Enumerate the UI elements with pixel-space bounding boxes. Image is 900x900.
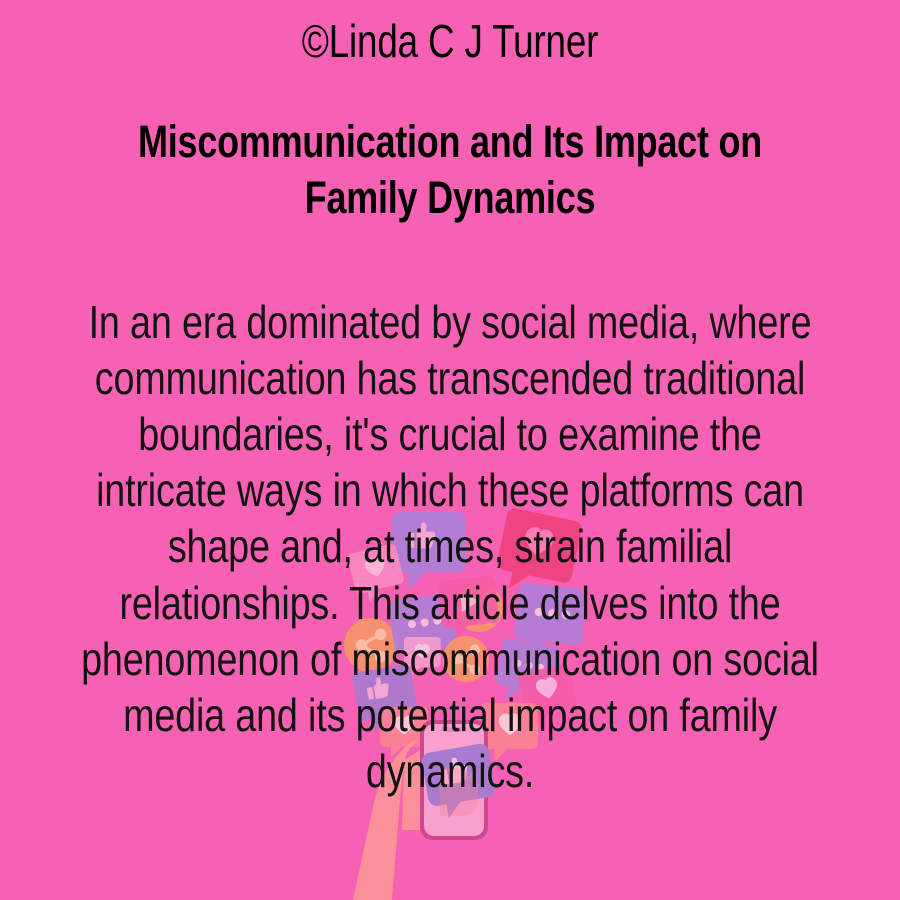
byline-credit: ©Linda C J Turner <box>90 16 810 68</box>
poster-canvas: ©Linda C J Turner Miscommunication and I… <box>0 0 900 900</box>
article-body-paragraph: In an era dominated by social media, whe… <box>70 294 831 799</box>
text-layer: ©Linda C J Turner Miscommunication and I… <box>0 0 900 900</box>
page-title: Miscommunication and Its Impact on Famil… <box>90 114 810 227</box>
